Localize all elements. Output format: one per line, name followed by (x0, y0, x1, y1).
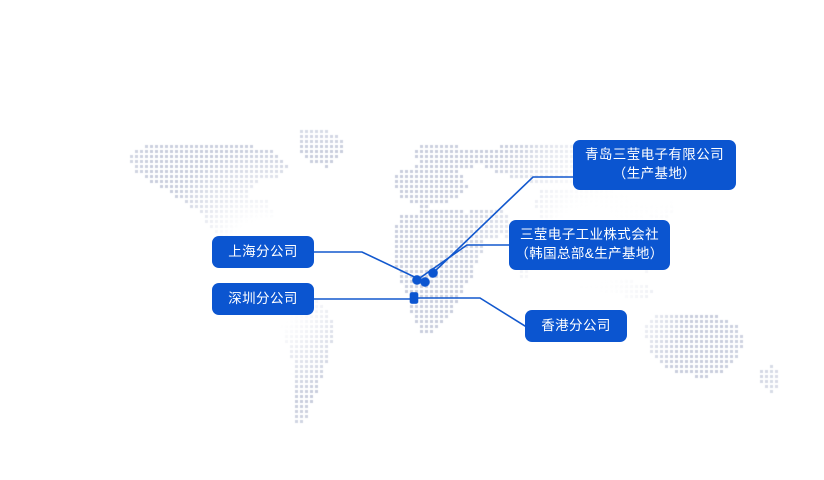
label-shanghai-line-1: 上海分公司 (228, 243, 298, 262)
label-korea-hq-line-1: 三莹电子工业株式会社 (520, 226, 659, 245)
world-map-dots (0, 0, 824, 480)
world-map (0, 0, 824, 480)
label-korea-hq-line-2: （韩国总部&生产基地） (515, 245, 663, 264)
map-infographic: 青岛三莹电子有限公司 （生产基地） 三莹电子工业株式会社 （韩国总部&生产基地）… (0, 0, 824, 480)
label-qingdao-line-1: 青岛三莹电子有限公司 (585, 146, 724, 165)
marker-shenzhen[interactable] (410, 293, 418, 304)
label-hongkong-line-1: 香港分公司 (541, 317, 611, 336)
marker-qingdao[interactable] (429, 269, 438, 278)
label-shanghai[interactable]: 上海分公司 (212, 236, 314, 268)
label-korea-hq[interactable]: 三莹电子工业株式会社 （韩国总部&生产基地） (509, 220, 670, 270)
label-shenzhen[interactable]: 深圳分公司 (212, 283, 314, 315)
label-hongkong[interactable]: 香港分公司 (525, 310, 627, 342)
label-qingdao-line-2: （生产基地） (613, 165, 696, 184)
marker-shanghai[interactable] (421, 278, 430, 287)
label-qingdao[interactable]: 青岛三莹电子有限公司 （生产基地） (573, 140, 736, 190)
label-shenzhen-line-1: 深圳分公司 (228, 290, 298, 309)
